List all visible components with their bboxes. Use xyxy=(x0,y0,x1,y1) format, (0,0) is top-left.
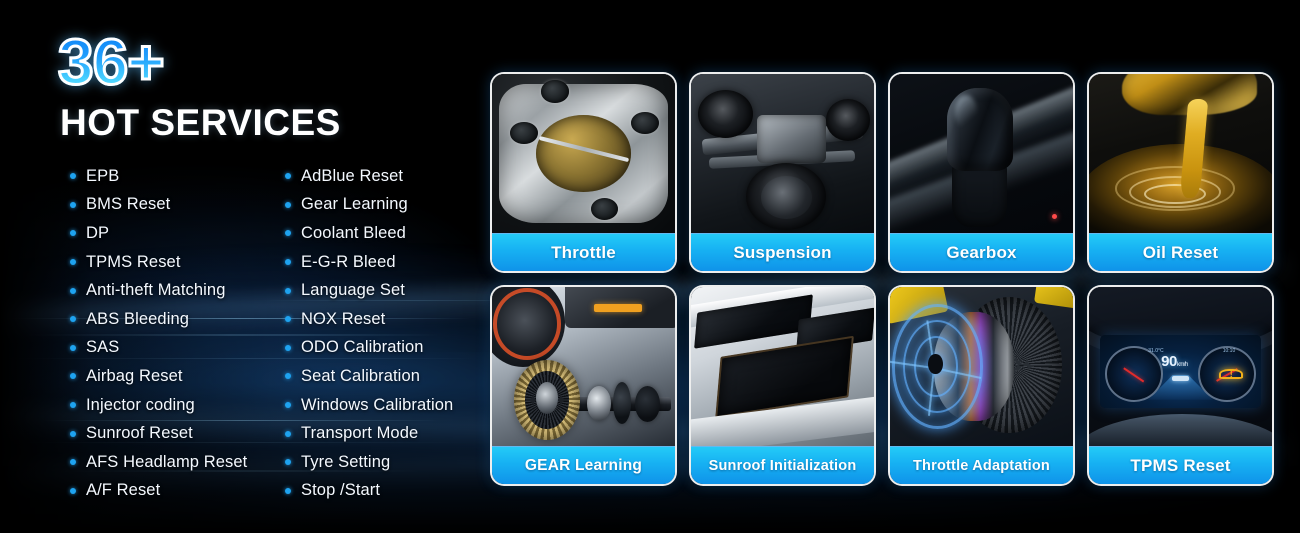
card-caption: Throttle xyxy=(492,233,675,271)
throttle-body-image xyxy=(492,74,675,233)
bullet-icon xyxy=(285,173,291,179)
bullet-icon xyxy=(285,431,291,437)
list-item[interactable]: Language Set xyxy=(285,276,453,305)
list-item-label: BMS Reset xyxy=(86,195,170,214)
list-item[interactable]: TPMS Reset xyxy=(70,248,285,277)
card-caption: Suspension xyxy=(691,233,874,271)
service-list-column-right: AdBlue Reset Gear Learning Coolant Bleed… xyxy=(285,162,453,505)
hot-services-panel: 36+ HOT SERVICES EPB BMS Reset DP TPMS R… xyxy=(58,30,488,510)
car-chassis-suspension-image xyxy=(691,74,874,233)
bullet-icon xyxy=(70,459,76,465)
service-card-throttle-adaptation[interactable]: Throttle Adaptation xyxy=(888,285,1075,486)
service-card-tpms-reset[interactable]: 31.0°C 10:10 90km/h TPMS Reset xyxy=(1087,285,1274,486)
card-caption: Gearbox xyxy=(890,233,1073,271)
bullet-icon xyxy=(70,431,76,437)
list-item[interactable]: EPB xyxy=(70,162,285,191)
list-item[interactable]: A/F Reset xyxy=(70,477,285,506)
bullet-icon xyxy=(70,345,76,351)
list-item-label: Gear Learning xyxy=(301,195,408,214)
list-item[interactable]: E-G-R Bleed xyxy=(285,248,453,277)
service-card-suspension[interactable]: Suspension xyxy=(689,72,876,273)
list-item-label: ABS Bleeding xyxy=(86,310,189,329)
list-item-label: DP xyxy=(86,224,109,243)
list-item-label: Coolant Bleed xyxy=(301,224,406,243)
bullet-icon xyxy=(70,373,76,379)
list-item[interactable]: Coolant Bleed xyxy=(285,219,453,248)
list-item[interactable]: Transport Mode xyxy=(285,419,453,448)
cluster-speed-unit: km/h xyxy=(1177,362,1188,368)
card-row-bottom: GEAR Learning Sunroof Initialization xyxy=(490,285,1280,486)
list-item-label: Anti-theft Matching xyxy=(86,281,225,300)
list-item[interactable]: ABS Bleeding xyxy=(70,305,285,334)
list-item[interactable]: BMS Reset xyxy=(70,191,285,220)
tyre-pressure-warning-icon xyxy=(1219,369,1243,379)
list-item[interactable]: Gear Learning xyxy=(285,191,453,220)
list-item[interactable]: SAS xyxy=(70,334,285,363)
bullet-icon xyxy=(285,488,291,494)
bullet-icon xyxy=(285,402,291,408)
list-item-label: Stop /Start xyxy=(301,481,380,500)
transmission-gear-assembly-image xyxy=(492,287,675,446)
service-list: EPB BMS Reset DP TPMS Reset Anti-theft M… xyxy=(70,162,488,505)
list-item-label: TPMS Reset xyxy=(86,253,181,272)
cluster-clock: 10:10 xyxy=(1223,348,1236,354)
list-item-label: Seat Calibration xyxy=(301,367,420,386)
bullet-icon xyxy=(285,259,291,265)
bullet-icon xyxy=(70,259,76,265)
list-item[interactable]: Seat Calibration xyxy=(285,362,453,391)
list-item-label: Injector coding xyxy=(86,396,195,415)
service-list-column-left: EPB BMS Reset DP TPMS Reset Anti-theft M… xyxy=(70,162,285,505)
list-item-label: NOX Reset xyxy=(301,310,385,329)
list-item[interactable]: Windows Calibration xyxy=(285,391,453,420)
bullet-icon xyxy=(285,373,291,379)
service-card-throttle[interactable]: Throttle xyxy=(490,72,677,273)
list-item-label: ODO Calibration xyxy=(301,338,424,357)
list-item[interactable]: Sunroof Reset xyxy=(70,419,285,448)
list-item[interactable]: AdBlue Reset xyxy=(285,162,453,191)
service-count: 36+ xyxy=(58,30,164,94)
list-item-label: Airbag Reset xyxy=(86,367,183,386)
list-item[interactable]: Injector coding xyxy=(70,391,285,420)
holographic-throttle-disc-image xyxy=(890,287,1073,446)
card-row-top: Throttle Suspension Gearbox xyxy=(490,72,1280,273)
cluster-speed: 90km/h xyxy=(1161,353,1188,370)
bullet-icon xyxy=(70,316,76,322)
card-caption: Oil Reset xyxy=(1089,233,1272,271)
card-caption: GEAR Learning xyxy=(492,446,675,484)
list-item[interactable]: DP xyxy=(70,219,285,248)
bullet-icon xyxy=(285,345,291,351)
bullet-icon xyxy=(285,288,291,294)
pouring-engine-oil-image xyxy=(1089,74,1272,233)
card-caption: Throttle Adaptation xyxy=(890,446,1073,484)
panoramic-sunroof-image xyxy=(691,287,874,446)
card-caption: Sunroof Initialization xyxy=(691,446,874,484)
bullet-icon xyxy=(70,402,76,408)
service-card-oil-reset[interactable]: Oil Reset xyxy=(1087,72,1274,273)
page-title: HOT SERVICES xyxy=(60,104,488,141)
service-card-grid: Throttle Suspension Gearbox xyxy=(490,72,1280,512)
bullet-icon xyxy=(70,230,76,236)
list-item[interactable]: Airbag Reset xyxy=(70,362,285,391)
bullet-icon xyxy=(70,202,76,208)
list-item-label: EPB xyxy=(86,167,119,186)
list-item-label: E-G-R Bleed xyxy=(301,253,396,272)
bullet-icon xyxy=(70,488,76,494)
list-item-label: Windows Calibration xyxy=(301,396,453,415)
instrument-cluster-image: 31.0°C 10:10 90km/h xyxy=(1089,287,1272,446)
list-item-label: A/F Reset xyxy=(86,481,160,500)
service-card-sunroof-initialization[interactable]: Sunroof Initialization xyxy=(689,285,876,486)
list-item[interactable]: Tyre Setting xyxy=(285,448,453,477)
bullet-icon xyxy=(70,288,76,294)
list-item-label: Language Set xyxy=(301,281,405,300)
list-item[interactable]: Anti-theft Matching xyxy=(70,276,285,305)
gear-shift-knob-image xyxy=(890,74,1073,233)
list-item-label: Tyre Setting xyxy=(301,453,390,472)
list-item-label: Sunroof Reset xyxy=(86,424,193,443)
list-item[interactable]: ODO Calibration xyxy=(285,334,453,363)
list-item-label: SAS xyxy=(86,338,119,357)
bullet-icon xyxy=(285,459,291,465)
service-card-gearbox[interactable]: Gearbox xyxy=(888,72,1075,273)
bullet-icon xyxy=(285,230,291,236)
card-caption: TPMS Reset xyxy=(1089,446,1272,484)
list-item[interactable]: NOX Reset xyxy=(285,305,453,334)
cluster-speed-value: 90 xyxy=(1161,353,1177,370)
bullet-icon xyxy=(285,316,291,322)
list-item[interactable]: Stop /Start xyxy=(285,477,453,506)
bullet-icon xyxy=(285,202,291,208)
service-card-gear-learning[interactable]: GEAR Learning xyxy=(490,285,677,486)
bullet-icon xyxy=(70,173,76,179)
list-item-label: AFS Headlamp Reset xyxy=(86,453,247,472)
list-item[interactable]: AFS Headlamp Reset xyxy=(70,448,285,477)
list-item-label: AdBlue Reset xyxy=(301,167,403,186)
list-item-label: Transport Mode xyxy=(301,424,418,443)
